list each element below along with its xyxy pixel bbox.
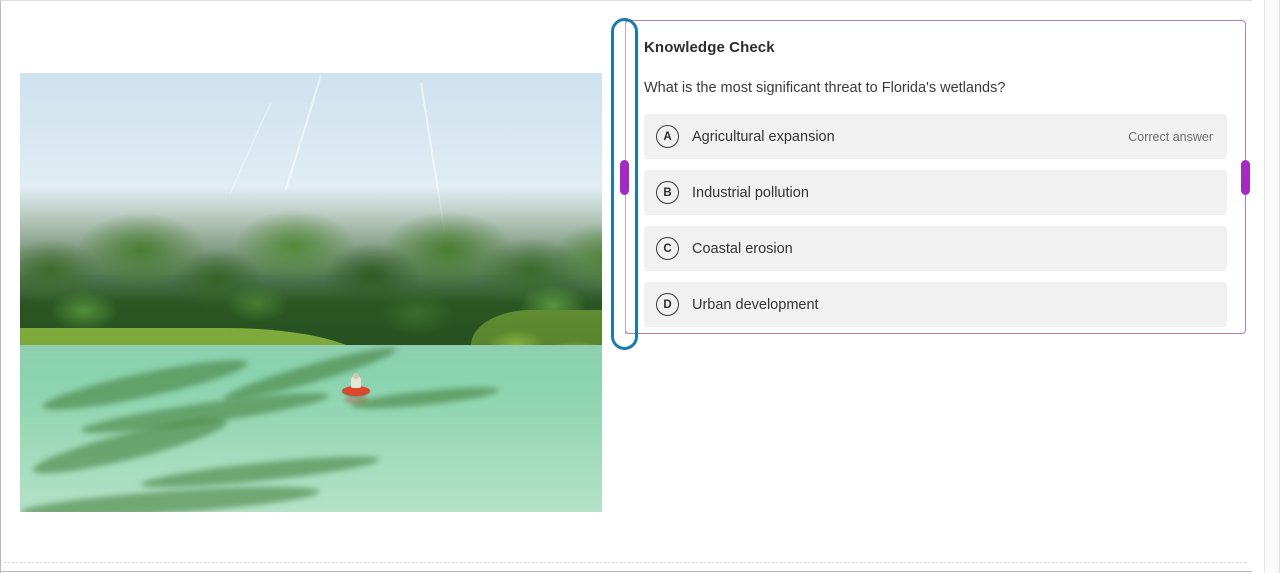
page-title: Knowledge Check [644,39,1227,56]
answer-options-list: A Agricultural expansion Correct answer … [644,114,1227,327]
option-label-d: Urban development [692,297,1213,313]
option-letter-b-icon: B [656,181,679,204]
window-bottom-border [0,571,1252,572]
answer-option-b[interactable]: B Industrial pollution [644,170,1227,215]
page-dotted-divider [4,562,1248,563]
option-letter-c-icon: C [656,237,679,260]
scrollbar-focus-ring [611,18,638,350]
window-left-border [0,0,1,573]
contrail-streak [229,103,271,195]
answer-option-c[interactable]: C Coastal erosion [644,226,1227,271]
option-letter-a-icon: A [656,125,679,148]
outer-scrollbar-track[interactable] [1264,0,1280,573]
knowledge-check-panel: Knowledge Check What is the most signifi… [625,20,1246,334]
outer-scrollbar-thumb[interactable] [1241,160,1250,195]
option-label-c: Coastal erosion [692,241,1213,257]
contrail-streak [285,75,322,190]
kayak-reflection [344,396,368,404]
option-label-b: Industrial pollution [692,185,1213,201]
scroll-gutter-edge [1264,0,1265,573]
quiz-question: What is the most significant threat to F… [644,80,1227,96]
answer-option-d[interactable]: D Urban development [644,282,1227,327]
correct-answer-badge: Correct answer [1128,130,1213,144]
answer-option-a[interactable]: A Agricultural expansion Correct answer [644,114,1227,159]
option-letter-d-icon: D [656,293,679,316]
florida-spring-kayak-photo [20,73,602,512]
kayaker-head [353,373,359,379]
page-root: Knowledge Check What is the most signifi… [0,0,1280,573]
window-top-border [0,0,1252,1]
option-label-a: Agricultural expansion [692,129,1128,145]
